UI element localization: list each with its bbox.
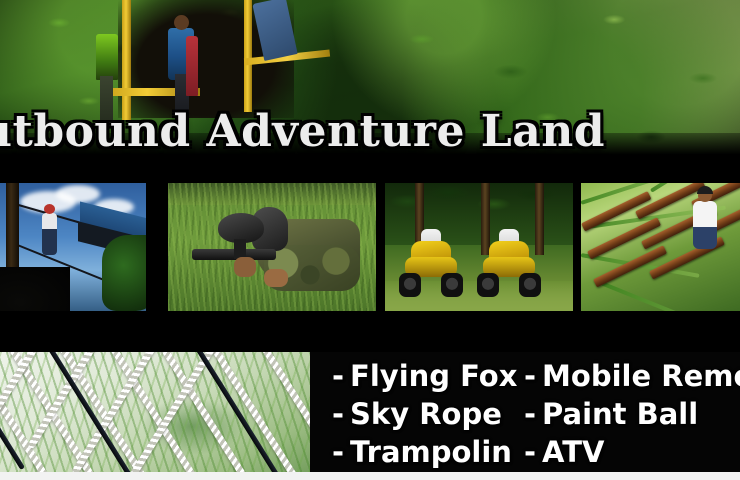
bottom-row: -Flying Fox -Sky Rope -Trampolin -Mobile… bbox=[0, 331, 740, 480]
flying-fox-photo bbox=[0, 183, 146, 311]
atv-wheel bbox=[399, 273, 421, 297]
bullet-dash: - bbox=[332, 397, 350, 431]
atv-photo bbox=[385, 183, 573, 311]
bullet-dash: - bbox=[524, 435, 542, 469]
banner-person-red bbox=[186, 36, 198, 96]
page-title: utbound Adventure Land bbox=[0, 104, 740, 160]
player-hand bbox=[264, 269, 288, 287]
list-item: -Mobile Remo bbox=[524, 362, 740, 391]
activity-label: Paint Ball bbox=[542, 397, 698, 431]
list-item: -ATV bbox=[524, 438, 604, 467]
bullet-dash: - bbox=[524, 397, 542, 431]
zipline-rider bbox=[42, 213, 57, 255]
activity-label: Mobile Remo bbox=[542, 359, 740, 393]
player-hand bbox=[234, 257, 256, 277]
rope-bridge-photo bbox=[581, 183, 740, 311]
activity-label: Flying Fox bbox=[350, 359, 517, 393]
atv-wheel bbox=[519, 273, 541, 297]
atv-wheel bbox=[441, 273, 463, 297]
banner-person-green bbox=[96, 34, 118, 80]
atv-scene bbox=[385, 183, 573, 311]
activity-label: Trampolin bbox=[350, 435, 512, 469]
bridge-climber bbox=[693, 201, 717, 249]
palm-frond bbox=[600, 281, 722, 311]
foreground-shadow bbox=[0, 267, 70, 311]
adventure-park-poster: utbound Adventure Land bbox=[0, 0, 740, 480]
list-item: -Paint Ball bbox=[524, 400, 698, 429]
activity-label: ATV bbox=[542, 435, 604, 469]
atv-wheel bbox=[477, 273, 499, 297]
banner-post-right bbox=[244, 0, 252, 112]
atv-quad-bike bbox=[399, 239, 463, 297]
palm-canopy bbox=[385, 183, 573, 245]
rope-net-photo bbox=[0, 352, 310, 480]
bullet-dash: - bbox=[332, 435, 350, 469]
activities-panel: -Flying Fox -Sky Rope -Trampolin -Mobile… bbox=[310, 352, 740, 480]
paintball-hopper bbox=[218, 213, 264, 243]
list-item: -Sky Rope bbox=[332, 400, 502, 429]
photo-strip bbox=[0, 163, 740, 331]
cloud-icon bbox=[56, 185, 100, 203]
atv-quad-bike bbox=[477, 239, 541, 297]
paintball-photo bbox=[168, 183, 376, 311]
flying-fox-scene bbox=[0, 183, 146, 311]
rope-bridge-scene bbox=[581, 183, 740, 311]
footer-strip bbox=[0, 472, 740, 480]
list-item: -Trampolin bbox=[332, 438, 512, 467]
bullet-dash: - bbox=[332, 359, 350, 393]
bullet-dash: - bbox=[524, 359, 542, 393]
banner-post-left bbox=[122, 0, 131, 120]
list-item: -Flying Fox bbox=[332, 362, 517, 391]
foliage bbox=[102, 235, 146, 311]
activity-label: Sky Rope bbox=[350, 397, 502, 431]
paintball-scene bbox=[168, 183, 376, 311]
